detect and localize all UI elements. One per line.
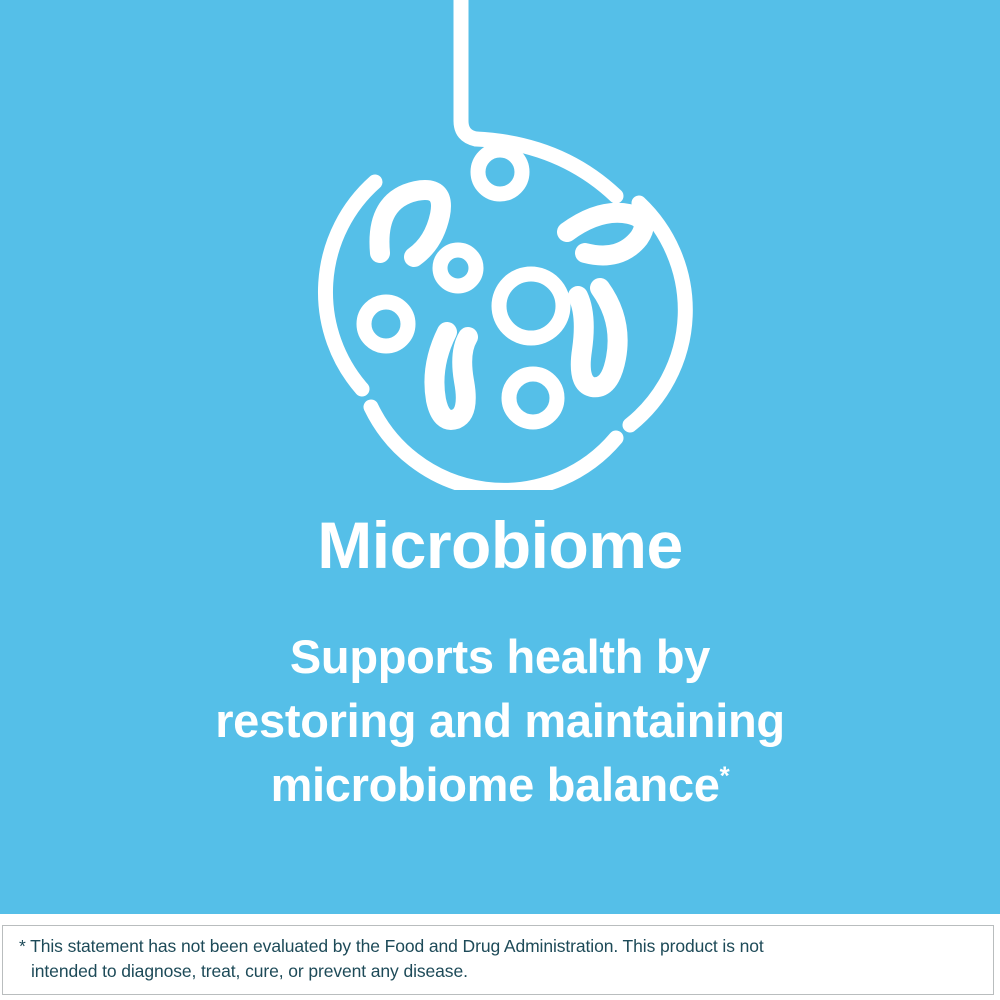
microbe-rod-upper-left	[379, 190, 441, 257]
dish-arc-left	[325, 182, 375, 389]
microbiome-petri-dish-icon	[0, 0, 1000, 490]
fda-disclaimer-text: * This statement has not been evaluated …	[19, 934, 969, 984]
dish-stem	[461, 0, 476, 139]
dish-arc-bottom	[371, 407, 616, 490]
fda-disclaimer-line-2: intended to diagnose, treat, cure, or pr…	[19, 959, 969, 984]
microbiome-icon-container	[0, 0, 1000, 490]
microbe-circle-top	[478, 150, 522, 194]
microbe-circle-bottom	[509, 374, 557, 422]
microbe-circle-center	[499, 274, 563, 338]
benefit-description: Supports health by restoring and maintai…	[0, 625, 1000, 817]
microbe-rod-lower-center	[434, 332, 468, 420]
page-title: Microbiome	[0, 512, 1000, 578]
microbe-rod-upper-right	[567, 213, 644, 256]
benefit-line-2: restoring and maintaining	[0, 689, 1000, 753]
benefit-line-3: microbiome balance*	[0, 753, 1000, 817]
fda-disclaimer-line-1: * This statement has not been evaluated …	[19, 934, 969, 959]
footnote-marker: *	[720, 762, 730, 790]
microbe-rod-right	[578, 288, 618, 387]
microbe-circle-mid-left	[440, 250, 476, 286]
hero-panel: Microbiome Supports health by restoring …	[0, 0, 1000, 914]
benefit-line-3-text: microbiome balance	[271, 758, 720, 811]
product-benefit-card: Microbiome Supports health by restoring …	[0, 0, 1000, 1000]
microbe-circle-left	[364, 302, 408, 346]
fda-disclaimer-box: * This statement has not been evaluated …	[2, 925, 994, 995]
benefit-line-1: Supports health by	[0, 625, 1000, 689]
